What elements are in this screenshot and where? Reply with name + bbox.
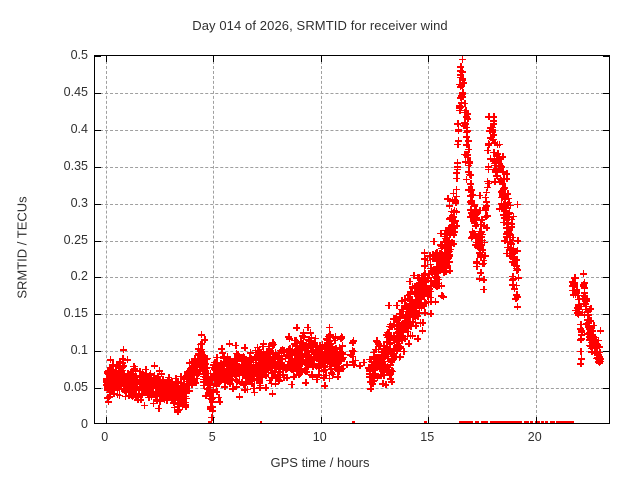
- scatter-point: [406, 295, 413, 302]
- scatter-point: [124, 372, 131, 379]
- scatter-point: [110, 375, 117, 382]
- scatter-point: [302, 368, 309, 375]
- scatter-point: [508, 252, 515, 259]
- scatter-point: [453, 175, 460, 182]
- scatter-point: [465, 162, 472, 169]
- scatter-point: [579, 295, 586, 302]
- gridline-horizontal: [95, 277, 609, 278]
- scatter-point: [216, 374, 223, 381]
- scatter-point: [390, 315, 397, 322]
- scatter-point: [508, 421, 515, 424]
- scatter-point: [433, 255, 440, 262]
- scatter-point: [485, 141, 492, 148]
- scatter-point: [109, 371, 116, 378]
- y-tick-mark: [95, 93, 101, 94]
- scatter-point: [187, 370, 194, 377]
- scatter-point: [255, 352, 262, 359]
- scatter-point: [393, 329, 400, 336]
- scatter-point: [503, 421, 510, 424]
- scatter-point: [586, 336, 593, 343]
- scatter-point: [514, 303, 521, 310]
- scatter-point: [244, 371, 251, 378]
- scatter-point: [388, 358, 395, 365]
- scatter-point: [120, 375, 127, 382]
- scatter-point: [196, 363, 203, 370]
- scatter-point: [442, 253, 449, 260]
- scatter-point: [592, 336, 599, 343]
- scatter-point: [498, 194, 505, 201]
- scatter-point: [141, 389, 148, 396]
- scatter-point: [381, 362, 388, 369]
- scatter-point: [513, 265, 520, 272]
- scatter-point: [187, 379, 194, 386]
- scatter-point: [182, 390, 189, 397]
- scatter-point: [510, 249, 517, 256]
- scatter-point: [252, 364, 259, 371]
- scatter-point: [477, 251, 484, 258]
- scatter-point: [513, 421, 520, 424]
- scatter-point: [498, 178, 505, 185]
- scatter-point: [203, 355, 210, 362]
- scatter-point: [258, 372, 265, 379]
- scatter-point: [502, 207, 509, 214]
- scatter-point: [395, 333, 402, 340]
- scatter-point: [435, 282, 442, 289]
- scatter-point: [109, 375, 116, 382]
- scatter-point: [230, 368, 237, 375]
- scatter-point: [433, 270, 440, 277]
- scatter-point: [180, 390, 187, 397]
- scatter-point: [332, 358, 339, 365]
- scatter-point: [514, 294, 521, 301]
- scatter-point: [206, 379, 213, 386]
- scatter-point: [457, 71, 464, 78]
- scatter-point: [174, 408, 181, 415]
- scatter-point: [134, 376, 141, 383]
- scatter-point: [169, 395, 176, 402]
- scatter-point: [434, 264, 441, 271]
- scatter-point: [476, 207, 483, 214]
- scatter-point: [126, 378, 133, 385]
- scatter-point: [487, 421, 494, 424]
- scatter-point: [177, 399, 184, 406]
- scatter-point: [399, 326, 406, 333]
- scatter-point: [480, 260, 487, 267]
- scatter-point: [399, 333, 406, 340]
- scatter-point: [570, 291, 577, 298]
- scatter-point: [477, 241, 484, 248]
- scatter-point: [201, 355, 208, 362]
- scatter-point: [116, 358, 123, 365]
- scatter-point: [558, 421, 565, 424]
- scatter-point: [386, 339, 393, 346]
- scatter-point: [206, 421, 213, 424]
- scatter-point: [453, 208, 460, 215]
- scatter-point: [517, 421, 524, 424]
- scatter-point: [450, 213, 457, 220]
- scatter-point: [435, 280, 442, 287]
- scatter-point: [463, 421, 470, 424]
- scatter-point: [434, 264, 441, 271]
- scatter-point: [522, 421, 529, 424]
- scatter-point: [293, 324, 300, 331]
- scatter-point: [407, 323, 414, 330]
- scatter-point: [243, 368, 250, 375]
- scatter-point: [444, 241, 451, 248]
- scatter-point: [480, 286, 487, 293]
- scatter-point: [134, 396, 141, 403]
- scatter-point: [489, 421, 496, 424]
- scatter-point: [225, 366, 232, 373]
- scatter-point: [432, 278, 439, 285]
- scatter-point: [468, 421, 475, 424]
- scatter-point: [482, 252, 489, 259]
- scatter-point: [109, 378, 116, 385]
- scatter-point: [332, 354, 339, 361]
- scatter-point: [270, 354, 277, 361]
- scatter-point: [227, 369, 234, 376]
- scatter-point: [488, 421, 495, 424]
- scatter-point: [114, 391, 121, 398]
- scatter-point: [174, 403, 181, 410]
- chart-root: Day 014 of 2026, SRMTID for receiver win…: [0, 0, 640, 480]
- scatter-point: [493, 421, 500, 424]
- scatter-point: [294, 363, 301, 370]
- scatter-point: [322, 372, 329, 379]
- scatter-point: [231, 371, 238, 378]
- scatter-point: [463, 151, 470, 158]
- scatter-point: [175, 388, 182, 395]
- scatter-point: [586, 329, 593, 336]
- scatter-point: [450, 223, 457, 230]
- scatter-point: [133, 380, 140, 387]
- scatter-point: [499, 421, 506, 424]
- scatter-point: [387, 370, 394, 377]
- scatter-point: [162, 391, 169, 398]
- scatter-point: [252, 366, 259, 373]
- scatter-point: [290, 365, 297, 372]
- scatter-point: [193, 375, 200, 382]
- scatter-point: [206, 421, 213, 424]
- gridline-horizontal: [95, 314, 609, 315]
- scatter-point: [397, 334, 404, 341]
- scatter-point: [229, 368, 236, 375]
- scatter-point: [180, 388, 187, 395]
- scatter-point: [457, 74, 464, 81]
- scatter-point: [258, 362, 265, 369]
- scatter-point: [329, 359, 336, 366]
- scatter-point: [271, 368, 278, 375]
- scatter-point: [153, 381, 160, 388]
- scatter-point: [438, 261, 445, 268]
- scatter-point: [203, 378, 210, 385]
- scatter-point: [374, 363, 381, 370]
- scatter-point: [510, 253, 517, 260]
- scatter-point: [388, 378, 395, 385]
- scatter-point: [326, 351, 333, 358]
- y-tick-label: 0.45: [28, 85, 88, 99]
- scatter-point: [110, 379, 117, 386]
- scatter-point: [458, 82, 465, 89]
- scatter-point: [182, 401, 189, 408]
- scatter-point: [592, 339, 599, 346]
- scatter-point: [220, 376, 227, 383]
- scatter-point: [334, 360, 341, 367]
- scatter-point: [403, 323, 410, 330]
- scatter-point: [511, 421, 518, 424]
- scatter-point: [222, 373, 229, 380]
- scatter-point: [233, 355, 240, 362]
- scatter-point: [292, 337, 299, 344]
- scatter-point: [509, 254, 516, 261]
- scatter-point: [323, 335, 330, 342]
- scatter-point: [485, 113, 492, 120]
- scatter-point: [596, 353, 603, 360]
- scatter-point: [116, 381, 123, 388]
- scatter-point: [569, 421, 576, 424]
- scatter-point: [132, 372, 139, 379]
- scatter-point: [433, 253, 440, 260]
- scatter-point: [191, 356, 198, 363]
- scatter-point: [205, 421, 212, 424]
- scatter-point: [504, 231, 511, 238]
- scatter-point: [229, 360, 236, 367]
- scatter-point: [232, 367, 239, 374]
- scatter-point: [322, 356, 329, 363]
- scatter-point: [506, 421, 513, 424]
- scatter-point: [384, 355, 391, 362]
- scatter-point: [426, 252, 433, 259]
- scatter-point: [582, 303, 589, 310]
- scatter-point: [114, 377, 121, 384]
- scatter-point: [446, 230, 453, 237]
- scatter-point: [227, 375, 234, 382]
- scatter-point: [289, 360, 296, 367]
- scatter-point: [404, 328, 411, 335]
- scatter-point: [461, 421, 468, 424]
- scatter-point: [328, 351, 335, 358]
- scatter-point: [443, 251, 450, 258]
- scatter-point: [465, 137, 472, 144]
- scatter-point: [198, 359, 205, 366]
- scatter-point: [274, 353, 281, 360]
- scatter-point: [472, 421, 479, 424]
- scatter-point: [421, 262, 428, 269]
- scatter-point: [400, 320, 407, 327]
- scatter-point: [594, 354, 601, 361]
- scatter-point: [244, 374, 251, 381]
- scatter-point: [432, 298, 439, 305]
- scatter-point: [231, 370, 238, 377]
- scatter-point: [437, 241, 444, 248]
- scatter-point: [577, 360, 584, 367]
- scatter-point: [290, 359, 297, 366]
- scatter-point: [494, 150, 501, 157]
- y-tick-mark: [95, 130, 101, 131]
- scatter-point: [374, 374, 381, 381]
- scatter-point: [388, 358, 395, 365]
- scatter-point: [130, 392, 137, 399]
- scatter-point: [332, 352, 339, 359]
- scatter-point: [459, 421, 466, 424]
- scatter-point: [118, 373, 125, 380]
- scatter-point: [442, 268, 449, 275]
- scatter-point: [472, 222, 479, 229]
- scatter-point: [256, 376, 263, 383]
- scatter-point: [465, 421, 472, 424]
- scatter-point: [485, 140, 492, 147]
- scatter-point: [511, 421, 518, 424]
- scatter-point: [511, 261, 518, 268]
- scatter-point: [515, 421, 522, 424]
- scatter-point: [200, 365, 207, 372]
- scatter-point: [336, 354, 343, 361]
- scatter-point: [596, 357, 603, 364]
- scatter-point: [192, 363, 199, 370]
- scatter-point: [503, 170, 510, 177]
- scatter-point: [321, 363, 328, 370]
- scatter-point: [501, 214, 508, 221]
- y-tick-label: 0.35: [28, 159, 88, 173]
- scatter-point: [247, 357, 254, 364]
- scatter-point: [369, 366, 376, 373]
- scatter-point: [574, 292, 581, 299]
- scatter-point: [401, 326, 408, 333]
- scatter-point: [337, 335, 344, 342]
- scatter-point: [384, 363, 391, 370]
- scatter-point: [266, 356, 273, 363]
- scatter-point: [187, 374, 194, 381]
- scatter-point: [421, 421, 428, 424]
- scatter-point: [329, 371, 336, 378]
- scatter-point: [118, 368, 125, 375]
- scatter-point: [414, 335, 421, 342]
- scatter-point: [397, 343, 404, 350]
- scatter-point: [349, 421, 356, 424]
- scatter-point: [423, 287, 430, 294]
- scatter-point: [497, 178, 504, 185]
- scatter-point: [112, 376, 119, 383]
- scatter-point: [152, 393, 159, 400]
- scatter-point: [275, 354, 282, 361]
- scatter-point: [304, 361, 311, 368]
- scatter-point: [324, 344, 331, 351]
- scatter-point: [441, 231, 448, 238]
- scatter-point: [233, 356, 240, 363]
- scatter-point: [157, 380, 164, 387]
- scatter-point: [302, 360, 309, 367]
- scatter-point: [198, 340, 205, 347]
- scatter-point: [226, 340, 233, 347]
- scatter-point: [294, 367, 301, 374]
- scatter-point: [219, 368, 226, 375]
- scatter-point: [456, 81, 463, 88]
- scatter-point: [299, 357, 306, 364]
- scatter-point: [198, 363, 205, 370]
- scatter-point: [490, 421, 497, 424]
- scatter-point: [451, 218, 458, 225]
- scatter-point: [499, 187, 506, 194]
- scatter-point: [438, 251, 445, 258]
- scatter-point: [433, 263, 440, 270]
- scatter-point: [294, 349, 301, 356]
- scatter-point: [272, 374, 279, 381]
- scatter-point: [269, 349, 276, 356]
- scatter-point: [424, 293, 431, 300]
- scatter-point: [148, 389, 155, 396]
- scatter-point: [450, 190, 457, 197]
- scatter-point: [297, 339, 304, 346]
- y-tick-mark: [95, 241, 101, 242]
- scatter-point: [107, 364, 114, 371]
- scatter-point: [573, 287, 580, 294]
- scatter-point: [257, 370, 264, 377]
- scatter-point: [165, 393, 172, 400]
- scatter-point: [503, 204, 510, 211]
- scatter-point: [158, 390, 165, 397]
- scatter-point: [499, 204, 506, 211]
- scatter-point: [201, 355, 208, 362]
- scatter-point: [205, 389, 212, 396]
- scatter-point: [549, 421, 556, 424]
- scatter-point: [401, 318, 408, 325]
- scatter-point: [441, 233, 448, 240]
- scatter-point: [125, 378, 132, 385]
- scatter-point: [176, 391, 183, 398]
- scatter-point: [326, 338, 333, 345]
- scatter-point: [190, 365, 197, 372]
- scatter-point: [430, 255, 437, 262]
- scatter-point: [436, 251, 443, 258]
- scatter-point: [216, 379, 223, 386]
- scatter-point: [113, 362, 120, 369]
- scatter-point: [107, 366, 114, 373]
- scatter-point: [472, 241, 479, 248]
- scatter-point: [586, 326, 593, 333]
- scatter-point: [300, 353, 307, 360]
- scatter-point: [265, 359, 272, 366]
- scatter-point: [556, 421, 563, 424]
- scatter-point: [467, 186, 474, 193]
- scatter-point: [367, 373, 374, 380]
- scatter-point: [431, 269, 438, 276]
- scatter-point: [502, 421, 509, 424]
- scatter-point: [201, 364, 208, 371]
- scatter-point: [215, 377, 222, 384]
- scatter-point: [327, 353, 334, 360]
- scatter-point: [453, 193, 460, 200]
- y-tick-mark: [95, 56, 101, 57]
- scatter-point: [473, 263, 480, 270]
- scatter-point: [442, 251, 449, 258]
- scatter-point: [586, 325, 593, 332]
- scatter-point: [245, 372, 252, 379]
- scatter-point: [446, 258, 453, 265]
- scatter-point: [208, 414, 215, 421]
- scatter-point: [481, 421, 488, 424]
- scatter-point: [418, 302, 425, 309]
- scatter-point: [254, 364, 261, 371]
- scatter-point: [472, 421, 479, 424]
- x-tick-mark: [321, 56, 322, 62]
- scatter-point: [590, 341, 597, 348]
- scatter-point: [597, 327, 604, 334]
- scatter-point: [522, 421, 529, 424]
- scatter-point: [503, 216, 510, 223]
- x-tick-mark: [213, 56, 214, 62]
- scatter-point: [179, 403, 186, 410]
- scatter-point: [269, 370, 276, 377]
